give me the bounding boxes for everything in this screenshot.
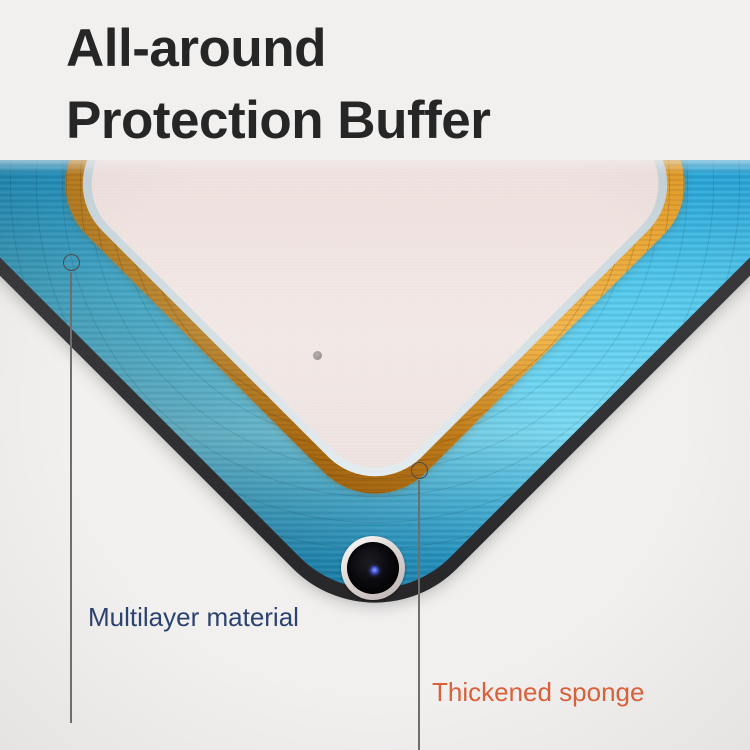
heading-line-1: All-around bbox=[66, 22, 326, 75]
callout-marker-multilayer bbox=[63, 254, 80, 271]
callout-label-multilayer: Multilayer material bbox=[88, 604, 299, 630]
product-photo bbox=[0, 160, 750, 750]
callout-leader-line-multilayer bbox=[70, 272, 71, 723]
callout-leader-line-sponge bbox=[418, 480, 419, 750]
callout-marker-sponge bbox=[411, 462, 428, 479]
callout-label-sponge: Thickened sponge bbox=[432, 679, 644, 705]
heading-line-2: Protection Buffer bbox=[66, 94, 490, 147]
heading-block: All-around Protection Buffer bbox=[0, 0, 750, 160]
product-infographic: All-around Protection Buffer bbox=[0, 0, 750, 750]
